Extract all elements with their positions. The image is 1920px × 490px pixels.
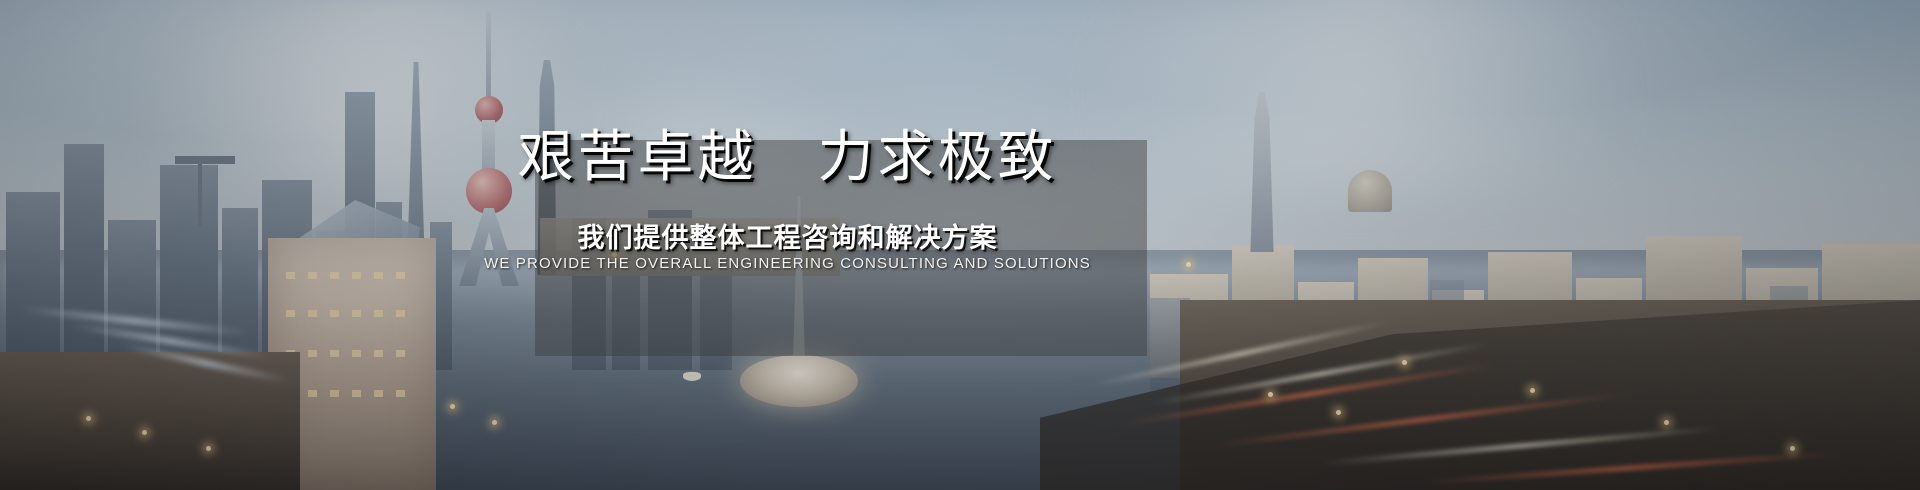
tower-antenna-mast: [486, 12, 491, 104]
tower-main-sphere: [466, 168, 512, 214]
river-boat: [683, 372, 701, 381]
hero-banner: 艰苦卓越 力求极致 我们提供整体工程咨询和解决方案 WE PROVIDE THE…: [0, 0, 1920, 490]
illuminated-fountain-base: [740, 355, 858, 407]
text-overlay-panel: [535, 140, 1147, 356]
construction-crane-jib: [175, 156, 235, 164]
oriental-pearl-tower: [455, 12, 525, 272]
construction-crane-mast: [198, 156, 202, 226]
